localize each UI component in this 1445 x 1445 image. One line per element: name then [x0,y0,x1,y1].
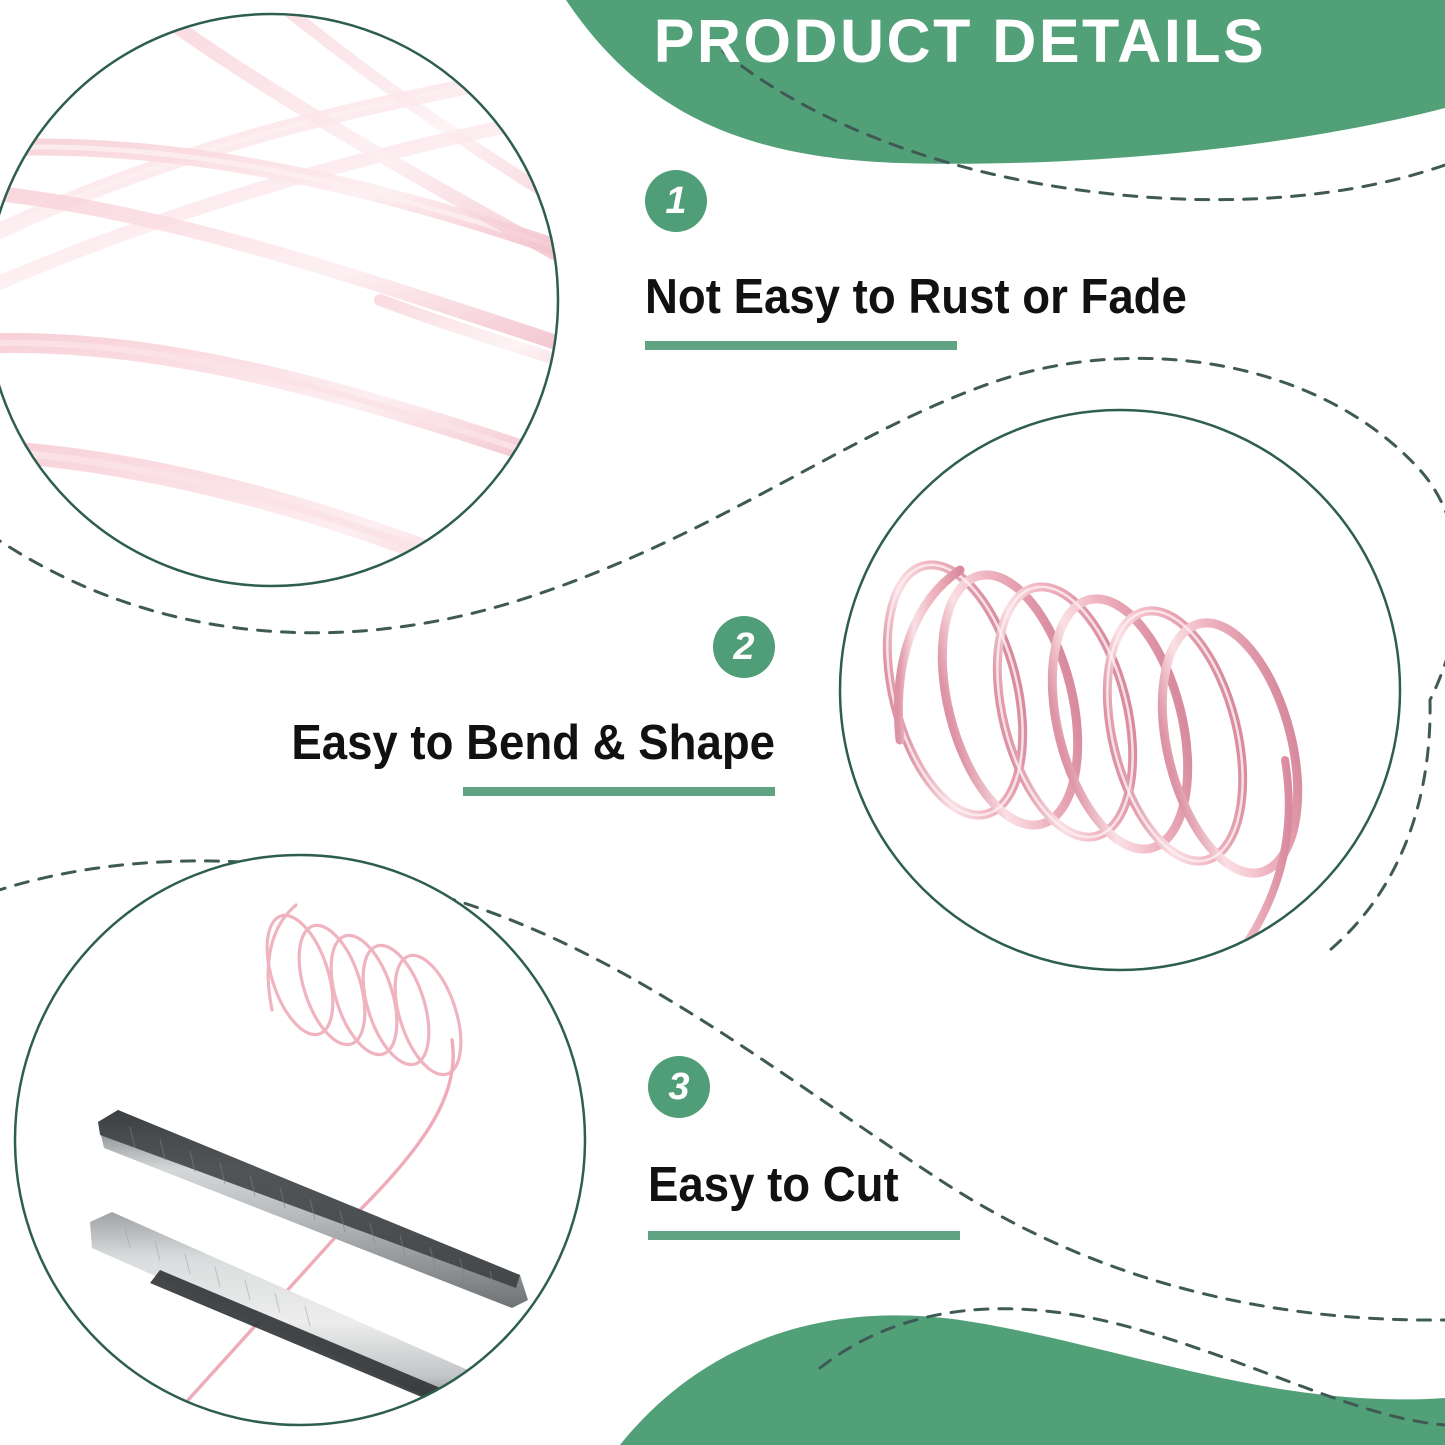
feature-image-3 [10,850,600,1440]
feature-block-3: 3 Easy to Cut [648,1056,960,1240]
scissor-blade-upper [98,1110,528,1308]
bottom-wave-shape [620,1315,1445,1445]
scissor-blade-lower [90,1212,545,1440]
feature-block-2: 2 Easy to Bend & Shape [155,616,775,796]
feature-image-1 [0,0,660,640]
feature-underline-3 [648,1231,960,1240]
product-details-infographic: PRODUCT DETAILS 1 Not Easy to Rust or Fa… [0,0,1445,1445]
feature-3-badge-wrap: 3 [648,1056,960,1118]
feature-image-2 [830,400,1420,1000]
feature-underline-1 [645,341,957,350]
feature-number-badge-3: 3 [648,1056,710,1118]
feature-underline-2 [463,787,775,796]
feature-image-1-outline [0,14,558,586]
feature-title-1: Not Easy to Rust or Fade [645,272,1187,323]
feature-block-1: 1 Not Easy to Rust or Fade [645,170,1228,350]
feature-title-2: Easy to Bend & Shape [198,718,775,769]
feature-image-2-outline [840,410,1400,970]
feature-number-badge-1: 1 [645,170,707,232]
feature-1-badge-wrap: 1 [645,170,1228,232]
page-title: PRODUCT DETAILS [610,6,1310,76]
feature-number-badge-2: 2 [713,616,775,678]
dashed-curve-circle2-right [1330,700,1430,950]
dashed-curve-bottom [820,1309,1445,1425]
feature-2-badge-wrap: 2 [155,616,775,678]
feature-image-3-outline [15,855,585,1425]
feature-title-3: Easy to Cut [648,1160,938,1211]
